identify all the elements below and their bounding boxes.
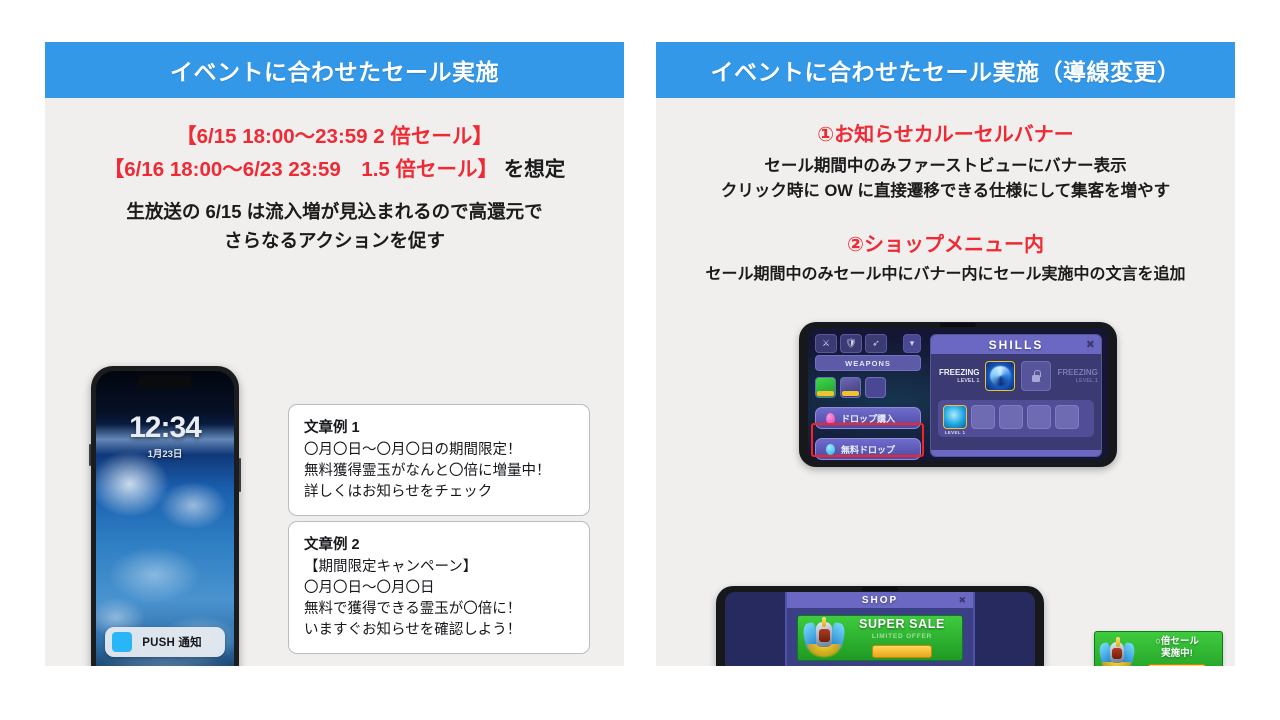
- knight-helmet-icon: [1100, 639, 1134, 666]
- example-2-line-2: 〇月〇日〜〇月〇日: [304, 578, 574, 599]
- super-sale-title: SUPER SALE: [848, 618, 956, 631]
- skill-tile-freezing[interactable]: [985, 361, 1015, 391]
- sale-note-line-1: 生放送の 6/15 は流入増が見込まれるので高還元で: [45, 198, 624, 226]
- shop-title: SHOP: [862, 595, 898, 606]
- section-1-description: セール期間中のみファーストビューにバナー表示 クリック時に OW に直接遷移でき…: [656, 154, 1235, 204]
- skills-panel-header: SHILLS ✖: [931, 335, 1101, 354]
- drop-blue-icon: [826, 444, 835, 455]
- example-box-1: 文章例 1 〇月〇日〜〇月〇日の期間限定！ 無料獲得霊玉がなんと〇倍に増量中！ …: [288, 404, 590, 516]
- shop-game-screen: SHOP ✖: [725, 592, 1035, 666]
- weapon-item-row: [815, 377, 921, 398]
- super-sale-cta-button[interactable]: [872, 645, 932, 658]
- phone-notch: [138, 375, 192, 388]
- example-2-line-1: 【期間限定キャンペーン】: [304, 557, 574, 578]
- left-panel: イベントに合わせたセール実施 【6/15 18:00〜23:59 2 倍セール】…: [45, 42, 624, 666]
- super-sale-text: SUPER SALE LIMITED OFFER: [848, 618, 956, 658]
- strip-tile[interactable]: [999, 405, 1023, 429]
- shop-screen-content: SHOP ✖: [725, 592, 1035, 666]
- callout-line-2: 実施中!: [1137, 648, 1217, 660]
- example-1-line-2: 無料獲得霊玉がなんと〇倍に増量中！: [304, 461, 574, 482]
- close-icon[interactable]: ✖: [958, 595, 966, 606]
- free-drop-label: 無料ドロップ: [841, 443, 895, 456]
- lock-screen-clock: 12:34 1月23日: [96, 413, 234, 460]
- super-sale-banner[interactable]: SUPER SALE LIMITED OFFER: [797, 615, 963, 661]
- sale-line-2-red: 【6/16 18:00〜6/23 23:59 1.5 倍セール】: [104, 158, 498, 181]
- super-sale-subtitle: LIMITED OFFER: [848, 633, 956, 640]
- callout-text: ○倍セール 実施中!: [1137, 636, 1217, 666]
- weapon-item-add[interactable]: [865, 377, 886, 398]
- weapon-tab-row: ⚔ 🛡 ➶ ▾: [815, 334, 921, 353]
- example-2-line-4: いますぐお知らせを確認しよう！: [304, 620, 574, 641]
- strip-tile-active[interactable]: LEVEL 1: [943, 405, 967, 429]
- skill-name: FREEZING: [939, 368, 979, 377]
- drop-pink-icon: [826, 413, 835, 424]
- swirl-icon: [990, 366, 1010, 386]
- sale-note-line-2: さらなるアクションを促す: [45, 227, 624, 255]
- phone-mockup: 12:34 1月23日 PUSH 通知: [91, 366, 239, 666]
- app-icon: [112, 632, 132, 652]
- weapon-item[interactable]: [840, 377, 861, 398]
- weapons-column: ⚔ 🛡 ➶ ▾ WEAPONS: [808, 328, 928, 461]
- example-box-2: 文章例 2 【期間限定キャンペーン】 〇月〇日〜〇月〇日 無料で獲得できる霊玉が…: [288, 521, 590, 654]
- sword-icon[interactable]: ⚔: [815, 334, 837, 353]
- right-panel-header: イベントに合わせたセール実施（導線変更）: [656, 42, 1235, 98]
- skill-strip: LEVEL 1: [938, 400, 1094, 437]
- example-1-line-1: 〇月〇日〜〇月〇日の期間限定！: [304, 440, 574, 461]
- section-2-description: セール期間中のみセール中にバナー内にセール実施中の文言を追加: [656, 263, 1235, 287]
- skill-level: LEVEL 1: [939, 378, 979, 385]
- push-notification-label: PUSH 通知: [140, 634, 218, 650]
- right-panel-title: イベントに合わせたセール実施（導線変更）: [711, 53, 1181, 87]
- push-notification-banner[interactable]: PUSH 通知: [105, 627, 225, 657]
- sale-schedule-block: 【6/15 18:00〜23:59 2 倍セール】 【6/16 18:00〜6/…: [45, 98, 624, 186]
- example-1-line-3: 詳しくはお知らせをチェック: [304, 482, 574, 503]
- example-2-line-3: 無料で獲得できる霊玉が〇倍に！: [304, 599, 574, 620]
- lock-date: 1月23日: [96, 446, 234, 460]
- close-icon[interactable]: ✖: [1086, 338, 1095, 351]
- skills-game-screen: ⚔ 🛡 ➶ ▾ WEAPONS: [808, 328, 1108, 461]
- strip-tile[interactable]: [971, 405, 995, 429]
- example-1-title: 文章例 1: [304, 416, 574, 437]
- chevron-down-icon[interactable]: ▾: [903, 334, 921, 353]
- phone-screen: 12:34 1月23日 PUSH 通知: [96, 371, 234, 666]
- sale-callout-banner: ○倍セール 実施中!: [1094, 631, 1223, 666]
- sale-note: 生放送の 6/15 は流入増が見込まれるので高還元で さらなるアクションを促す: [45, 198, 624, 254]
- buy-drop-button[interactable]: ドロップ購入: [815, 407, 921, 429]
- right-panel: イベントに合わせたセール実施（導線変更） ①お知らせカルーセルバナー セール期間…: [656, 42, 1235, 666]
- sale-line-2: 【6/16 18:00〜6/23 23:59 1.5 倍セール】 を想定: [45, 153, 624, 186]
- callout-line-1: ○倍セール: [1137, 636, 1217, 648]
- lock-icon: [1031, 370, 1041, 382]
- slide-root: イベントに合わせたセール実施 【6/15 18:00〜23:59 2 倍セール】…: [0, 0, 1280, 720]
- shop-panel: SHOP ✖: [785, 592, 975, 666]
- right-panel-body: ①お知らせカルーセルバナー セール期間中のみファーストビューにバナー表示 クリッ…: [656, 98, 1235, 666]
- section-1-desc-line-2: クリック時に OW に直接遷移できる仕様にして集客を増やす: [656, 179, 1235, 204]
- strip-tile[interactable]: [1027, 405, 1051, 429]
- example-2-title: 文章例 2: [304, 533, 574, 554]
- phone-landscape-mockup-skills: ⚔ 🛡 ➶ ▾ WEAPONS: [799, 322, 1117, 467]
- skills-panel: SHILLS ✖ FREEZING LEVEL 1: [930, 334, 1102, 457]
- shield-icon[interactable]: 🛡: [840, 334, 862, 353]
- section-1-title: ①お知らせカルーセルバナー: [656, 98, 1235, 147]
- left-panel-title: イベントに合わせたセール実施: [170, 53, 499, 87]
- skills-panel-footer: [931, 450, 1101, 456]
- buy-drop-label: ドロップ購入: [841, 412, 895, 425]
- sale-line-1: 【6/15 18:00〜23:59 2 倍セール】: [45, 120, 624, 153]
- phone-landscape-mockup-shop: SHOP ✖: [716, 586, 1044, 666]
- lock-time: 12:34: [96, 413, 234, 443]
- sale-line-2-suffix: を想定: [498, 158, 565, 181]
- shop-panel-header: SHOP ✖: [787, 592, 973, 608]
- skill-tile-locked[interactable]: [1021, 361, 1051, 391]
- section-1-desc-line-1: セール期間中のみファーストビューにバナー表示: [656, 154, 1235, 179]
- weapon-item[interactable]: [815, 377, 836, 398]
- skills-screen-content: ⚔ 🛡 ➶ ▾ WEAPONS: [808, 328, 1108, 461]
- bow-icon[interactable]: ➶: [865, 334, 887, 353]
- skill-row: FREEZING LEVEL 1: [931, 354, 1101, 398]
- weapons-label: WEAPONS: [815, 355, 921, 371]
- free-drop-button[interactable]: 無料ドロップ: [815, 438, 921, 460]
- device-2-area: SHOP ✖: [656, 576, 1235, 666]
- skill-locked-level: LEVEL 1: [1057, 378, 1097, 385]
- knight-helmet-icon: [804, 619, 844, 657]
- left-panel-body: 【6/15 18:00〜23:59 2 倍セール】 【6/16 18:00〜6/…: [45, 98, 624, 666]
- skills-title: SHILLS: [989, 338, 1044, 352]
- section-2-title: ②ショップメニュー内: [656, 204, 1235, 257]
- callout-cta-button[interactable]: [1148, 664, 1206, 666]
- skill-locked-name: FREEZING: [1057, 368, 1097, 377]
- device-1-area: ⚔ 🛡 ➶ ▾ WEAPONS: [656, 320, 1235, 480]
- skill-locked-name-block: FREEZING LEVEL 1: [1057, 368, 1097, 385]
- skills-column: SHILLS ✖ FREEZING LEVEL 1: [928, 328, 1108, 461]
- strip-tile[interactable]: [1055, 405, 1079, 429]
- left-panel-header: イベントに合わせたセール実施: [45, 42, 624, 98]
- strip-level-label: LEVEL 1: [944, 430, 966, 435]
- skill-name-block: FREEZING LEVEL 1: [939, 368, 979, 385]
